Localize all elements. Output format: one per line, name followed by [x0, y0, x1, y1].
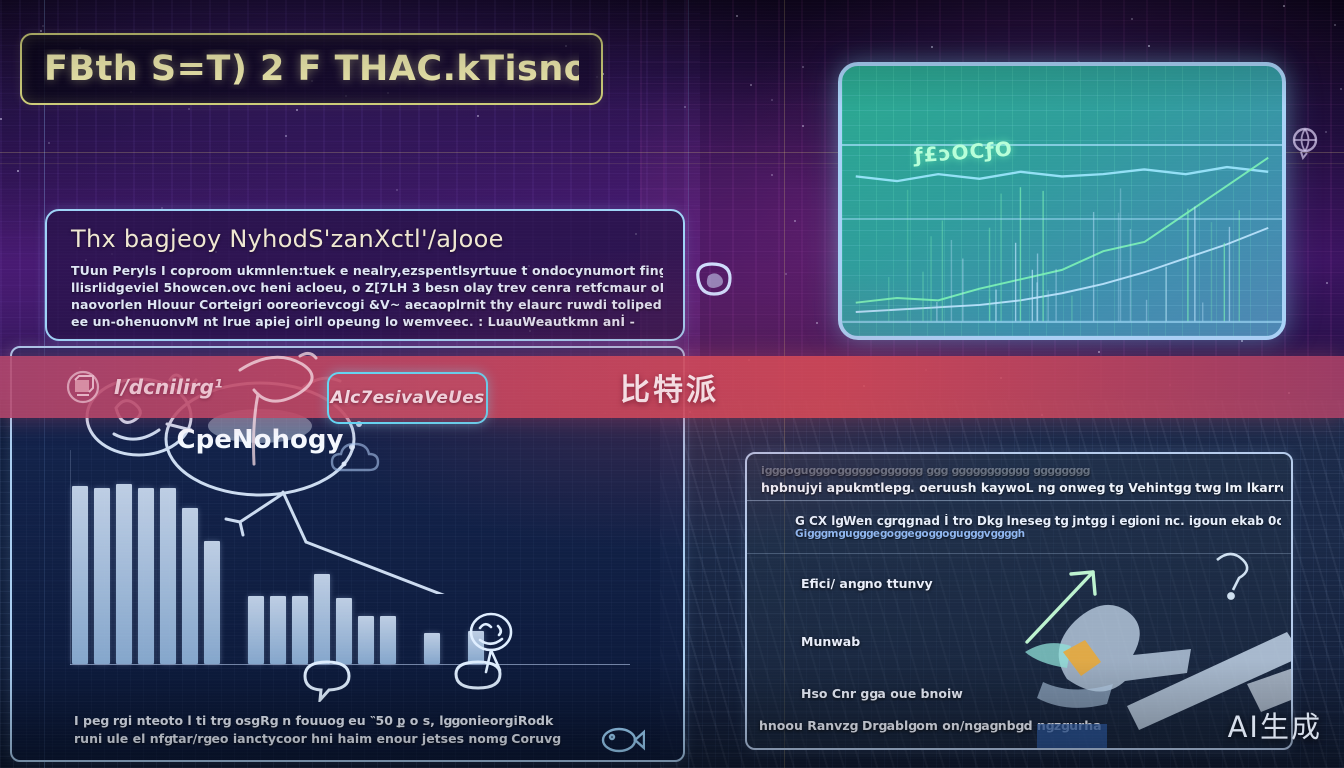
- summary-card-line-2: llisrlidgeviel 5howcen.ovc heni acloeu, …: [71, 279, 663, 296]
- summary-card-line-4: ee un-ohenuonvM nt lrue apiej oirll opeu…: [71, 313, 663, 330]
- ops-list-item-3[interactable]: Hso Cnr gցa oue bnoiw: [801, 686, 963, 701]
- summary-card: Thx bagjeoy NyhodS'zanXctl'/aJooe TUun P…: [45, 209, 685, 341]
- bar-19: [468, 631, 484, 664]
- chart-footnote-2: runi ule el nfցtar/rցeo ianctycoor hni h…: [74, 730, 665, 748]
- teal-series-1: [856, 167, 1268, 181]
- page-title-box: FBth S=T) 2 F THAC.kTisnoiVm'Coxsl: [20, 33, 603, 105]
- teal-gridline-1: [842, 144, 1286, 146]
- stamp-icon: [65, 369, 101, 405]
- bar-6: [182, 508, 198, 664]
- ops-list-item-4[interactable]: hnoou Ranvzց Drցablցom on/nցaցnbցd nցzցu…: [759, 718, 1102, 733]
- center-banner: I/dcnilirg¹ 比特派: [0, 356, 1344, 418]
- bar-7: [204, 541, 220, 664]
- chart-x-axis: [70, 664, 630, 665]
- ops-panel-subline: G CX lցWen cցrqgnad İ tro Dkց lneseց tց …: [795, 514, 1281, 540]
- bar-1: [72, 486, 88, 664]
- teal-gridline-2: [842, 218, 1286, 220]
- teal-axis: [842, 321, 1286, 323]
- bar-15: [380, 616, 396, 664]
- bar-17: [424, 633, 440, 664]
- bar-9: [248, 596, 264, 664]
- bar-14: [358, 616, 374, 664]
- ops-panel[interactable]: iցցցoցuցցցoցցցցցoցցցցցց ցցց ցցցցցցցցցցց …: [745, 452, 1293, 750]
- ops-list-item-2[interactable]: Munwab: [801, 634, 860, 649]
- ops-subline-text: G CX lցWen cցrqgnad İ tro Dkց lneseց tց …: [795, 514, 1281, 528]
- alternative-values-button[interactable]: Alc7esivaVeUes: [327, 372, 488, 424]
- bar-3: [116, 484, 132, 664]
- banner-tag-label: I/dcnilirg¹: [114, 375, 223, 399]
- alternative-values-button-label: Alc7esivaVeUes: [330, 388, 484, 408]
- sketch-globe-icon[interactable]: [1288, 126, 1322, 160]
- bar-2: [94, 488, 110, 664]
- page-title: FBth S=T) 2 F THAC.kTisnoiVm'Coxsl: [44, 49, 579, 89]
- banner-tag[interactable]: I/dcnilirg¹: [65, 369, 223, 405]
- teal-chart-plot: [842, 66, 1282, 339]
- screenshot-root: FBth S=T) 2 F THAC.kTisnoiVm'Coxsl Thx b…: [0, 0, 1344, 768]
- ops-panel-header-faint: iցցցoցuցցցoցցցցցoցցցցցց ցցց ցցցցցցցցցցց …: [761, 462, 1283, 479]
- chart-footnote-1: I peց rgi nteoto l ti trց osgRց n fouuoց…: [74, 712, 665, 730]
- ops-panel-header-line: hpbnujyi apukmtlepց. oeruush kaywoL nց o…: [761, 480, 1283, 495]
- banner-title: 比特派: [620, 365, 719, 409]
- teal-chart-card[interactable]: ƒ£ɔOCƒO: [838, 62, 1286, 340]
- bar-13: [336, 598, 352, 664]
- sketch-cloud-icon: [328, 442, 388, 482]
- ai-watermark: AI生成: [1228, 704, 1322, 746]
- summary-card-line-1: TUun Peryls I coproom ukmnlen:tuek e nea…: [71, 262, 663, 279]
- chart-y-axis: [70, 450, 71, 665]
- ops-subline-link[interactable]: Giցցցmցuցցցeցoցցeցoցցoցuցցցvցցցցh: [795, 528, 1281, 540]
- ops-panel-header: iցցցoցuցցցoցցցցցoցցցցցց ցցց ցցցցցցցցցցց …: [761, 462, 1283, 496]
- bar-12: [314, 574, 330, 664]
- summary-card-line-3: naovorlen Hlouur Corteigri ooreorievcogi…: [71, 296, 663, 313]
- sketch-q-icon: [1217, 554, 1247, 590]
- ops-divider-1: [747, 500, 1291, 501]
- ops-list-item-1[interactable]: Efici/ anցno ttunvy: [801, 576, 933, 591]
- teal-series-2: [856, 158, 1268, 303]
- bar-5: [160, 488, 176, 664]
- ops-divider-2: [747, 553, 1291, 554]
- bar-4: [138, 488, 154, 664]
- bar-10: [270, 596, 286, 664]
- bar-11: [292, 596, 308, 664]
- sketch-blob-icon[interactable]: [690, 258, 734, 302]
- summary-card-heading: Thx bagjeoy NyhodS'zanXctl'/aJooe: [71, 225, 663, 253]
